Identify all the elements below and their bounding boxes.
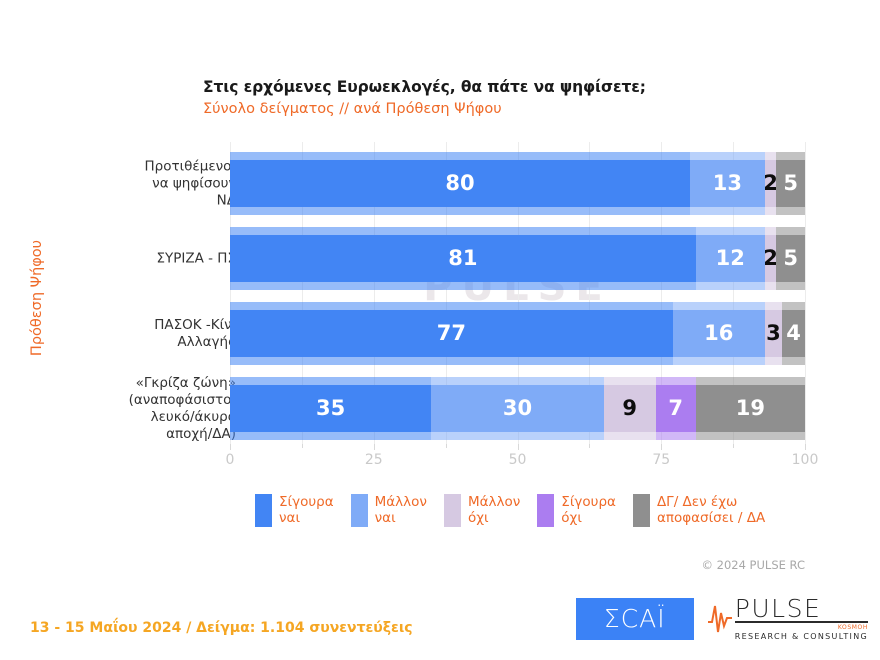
bar-segment-shadow (765, 357, 782, 365)
bar-segment-shadow (230, 377, 431, 385)
bar-segment-shadow (230, 207, 690, 215)
bar-segment[interactable]: 80 (230, 160, 690, 207)
category-label: ΣΥΡΙΖΑ - ΠΣ (36, 250, 236, 267)
bar-segment-shadow (696, 377, 805, 385)
x-tick-minor (446, 444, 447, 448)
bar-segment-shadow (765, 302, 782, 310)
bar-segment-shadow (673, 302, 765, 310)
bar-segment-shadow (230, 227, 696, 235)
pulse-wave-icon (707, 598, 733, 640)
pulse-logo-text-group: PULSE KOSMOH RESEARCH & CONSULTING (735, 596, 868, 641)
bar-segment-shadow (604, 377, 656, 385)
bar-segment-shadow (431, 432, 604, 440)
bar-value-label: 19 (736, 398, 765, 419)
bar-value-label: 35 (316, 398, 345, 419)
chart-title: Στις ερχόμενες Ευρωεκλογές, θα πάτε να ψ… (203, 78, 803, 96)
bar-value-label: 4 (786, 323, 801, 344)
category-label: Προτιθέμενοι να ψηφίσουν ΝΔ (36, 158, 236, 209)
bar-row: 801325 (230, 152, 805, 215)
category-label: «Γκρίζα ζώνη» (αναποφάσιστοι λευκό/άκυρο… (36, 375, 236, 443)
bar-segment-shadow (230, 432, 431, 440)
bar-segment-shadow (765, 152, 777, 160)
bar-segment[interactable]: 3 (765, 310, 782, 357)
bar-value-label: 2 (765, 248, 777, 269)
bar-segment[interactable]: 77 (230, 310, 673, 357)
chart-subtitle: Σύνολο δείγματος // ανά Πρόθεση Ψήφου (203, 101, 803, 117)
x-tick-minor (302, 444, 303, 448)
legend-item[interactable]: Σίγουρα όχι (537, 494, 616, 527)
x-axis: 0255075100 (230, 444, 805, 474)
pulse-logo-kosmoh: KOSMOH (735, 624, 868, 631)
bar-value-label: 30 (503, 398, 532, 419)
bar-segment-shadow (230, 302, 673, 310)
logo-group: ΣϹΑΪ PULSE KOSMOH RESEARCH & CONSULTING (576, 596, 868, 641)
legend-label: Σίγουρα ναι (279, 494, 334, 526)
bar-segment-shadow (690, 207, 765, 215)
legend: Σίγουρα ναιΜάλλον ναιΜάλλον όχιΣίγουρα ό… (255, 494, 782, 527)
legend-item[interactable]: Σίγουρα ναι (255, 494, 334, 527)
pulse-logo: PULSE KOSMOH RESEARCH & CONSULTING (707, 596, 868, 641)
bar-segment-shadow (431, 377, 604, 385)
skai-logo-text: ΣϹΑΪ (604, 604, 666, 633)
bar-segment[interactable]: 9 (604, 385, 656, 432)
bar-value-label: 12 (716, 248, 745, 269)
bar-value-label: 80 (445, 173, 474, 194)
gridline (805, 142, 806, 444)
legend-swatch (255, 494, 272, 527)
legend-label: Μάλλον όχι (468, 494, 520, 526)
bar-value-label: 5 (783, 173, 798, 194)
x-tick-minor (589, 444, 590, 448)
x-tick-major (805, 444, 806, 450)
bar-segment-shadow (696, 282, 765, 290)
bar-value-label: 9 (622, 398, 637, 419)
legend-swatch (351, 494, 368, 527)
plot-area: PULSE RESEARCH & CONSULTING 801325811225… (230, 142, 805, 444)
bar-segment[interactable]: 4 (782, 310, 805, 357)
title-block: Στις ερχόμενες Ευρωεκλογές, θα πάτε να ψ… (203, 78, 803, 117)
bar-segment-shadow (230, 357, 673, 365)
bar-segment[interactable]: 13 (690, 160, 765, 207)
bar-segment[interactable]: 5 (776, 160, 805, 207)
bar-segment[interactable]: 16 (673, 310, 765, 357)
x-tick-major (661, 444, 662, 450)
bar-segment-shadow (230, 152, 690, 160)
pulse-logo-tagline: RESEARCH & CONSULTING (735, 632, 868, 641)
bar-value-label: 7 (668, 398, 683, 419)
bar-segment[interactable]: 2 (765, 235, 777, 282)
x-tick-label: 75 (652, 452, 670, 468)
bar-segment-shadow (776, 152, 805, 160)
bar-segment-shadow (765, 227, 777, 235)
bar-rows: 80132581122577163435309719 (230, 142, 805, 444)
bar-value-label: 81 (448, 248, 477, 269)
bar-row: 35309719 (230, 377, 805, 440)
x-tick-major (374, 444, 375, 450)
skai-logo: ΣϹΑΪ (576, 598, 694, 640)
pulse-logo-word: PULSE (735, 596, 868, 623)
legend-swatch (537, 494, 554, 527)
bar-segment-shadow (656, 377, 696, 385)
legend-label: Σίγουρα όχι (561, 494, 616, 526)
bar-value-label: 3 (766, 323, 781, 344)
bar-row: 771634 (230, 302, 805, 365)
bar-segment[interactable]: 81 (230, 235, 696, 282)
x-tick-minor (733, 444, 734, 448)
legend-item[interactable]: Μάλλον ναι (351, 494, 427, 527)
bar-segment-shadow (782, 302, 805, 310)
bar-segment[interactable]: 35 (230, 385, 431, 432)
bar-value-label: 16 (704, 323, 733, 344)
bar-value-label: 2 (765, 173, 777, 194)
x-tick-major (518, 444, 519, 450)
bar-value-label: 5 (783, 248, 798, 269)
bar-segment-shadow (696, 227, 765, 235)
x-tick-label: 100 (792, 452, 819, 468)
bar-value-label: 77 (437, 323, 466, 344)
legend-swatch (633, 494, 650, 527)
bar-segment[interactable]: 12 (696, 235, 765, 282)
bar-segment-shadow (776, 282, 805, 290)
survey-note: 13 - 15 Μαΐου 2024 / Δείγμα: 1.104 συνεν… (30, 620, 413, 636)
bar-segment-shadow (776, 207, 805, 215)
x-tick-label: 0 (226, 452, 235, 468)
bar-segment-shadow (230, 282, 696, 290)
bar-segment-shadow (604, 432, 656, 440)
legend-swatch (444, 494, 461, 527)
copyright-text: © 2024 PULSE RC (701, 558, 805, 572)
legend-item[interactable]: Μάλλον όχι (444, 494, 520, 527)
legend-label: ΔΓ/ Δεν έχω αποφασίσει / ΔΑ (657, 494, 765, 526)
legend-label: Μάλλον ναι (375, 494, 427, 526)
bar-segment-shadow (673, 357, 765, 365)
bar-segment[interactable]: 19 (696, 385, 805, 432)
bar-segment-shadow (696, 432, 805, 440)
bar-segment[interactable]: 2 (765, 160, 777, 207)
bar-segment[interactable]: 5 (776, 235, 805, 282)
bar-segment-shadow (656, 432, 696, 440)
x-tick-label: 25 (365, 452, 383, 468)
bar-segment-shadow (776, 227, 805, 235)
bar-row: 811225 (230, 227, 805, 290)
bar-segment-shadow (690, 152, 765, 160)
bar-segment-shadow (765, 207, 777, 215)
bar-segment-shadow (765, 282, 777, 290)
bar-segment[interactable]: 7 (656, 385, 696, 432)
bar-value-label: 13 (713, 173, 742, 194)
x-tick-major (230, 444, 231, 450)
bar-segment-shadow (782, 357, 805, 365)
category-label: ΠΑΣΟΚ -Κίν. Αλλαγής (36, 317, 236, 351)
legend-item[interactable]: ΔΓ/ Δεν έχω αποφασίσει / ΔΑ (633, 494, 765, 527)
x-tick-label: 50 (509, 452, 527, 468)
bar-segment[interactable]: 30 (431, 385, 604, 432)
